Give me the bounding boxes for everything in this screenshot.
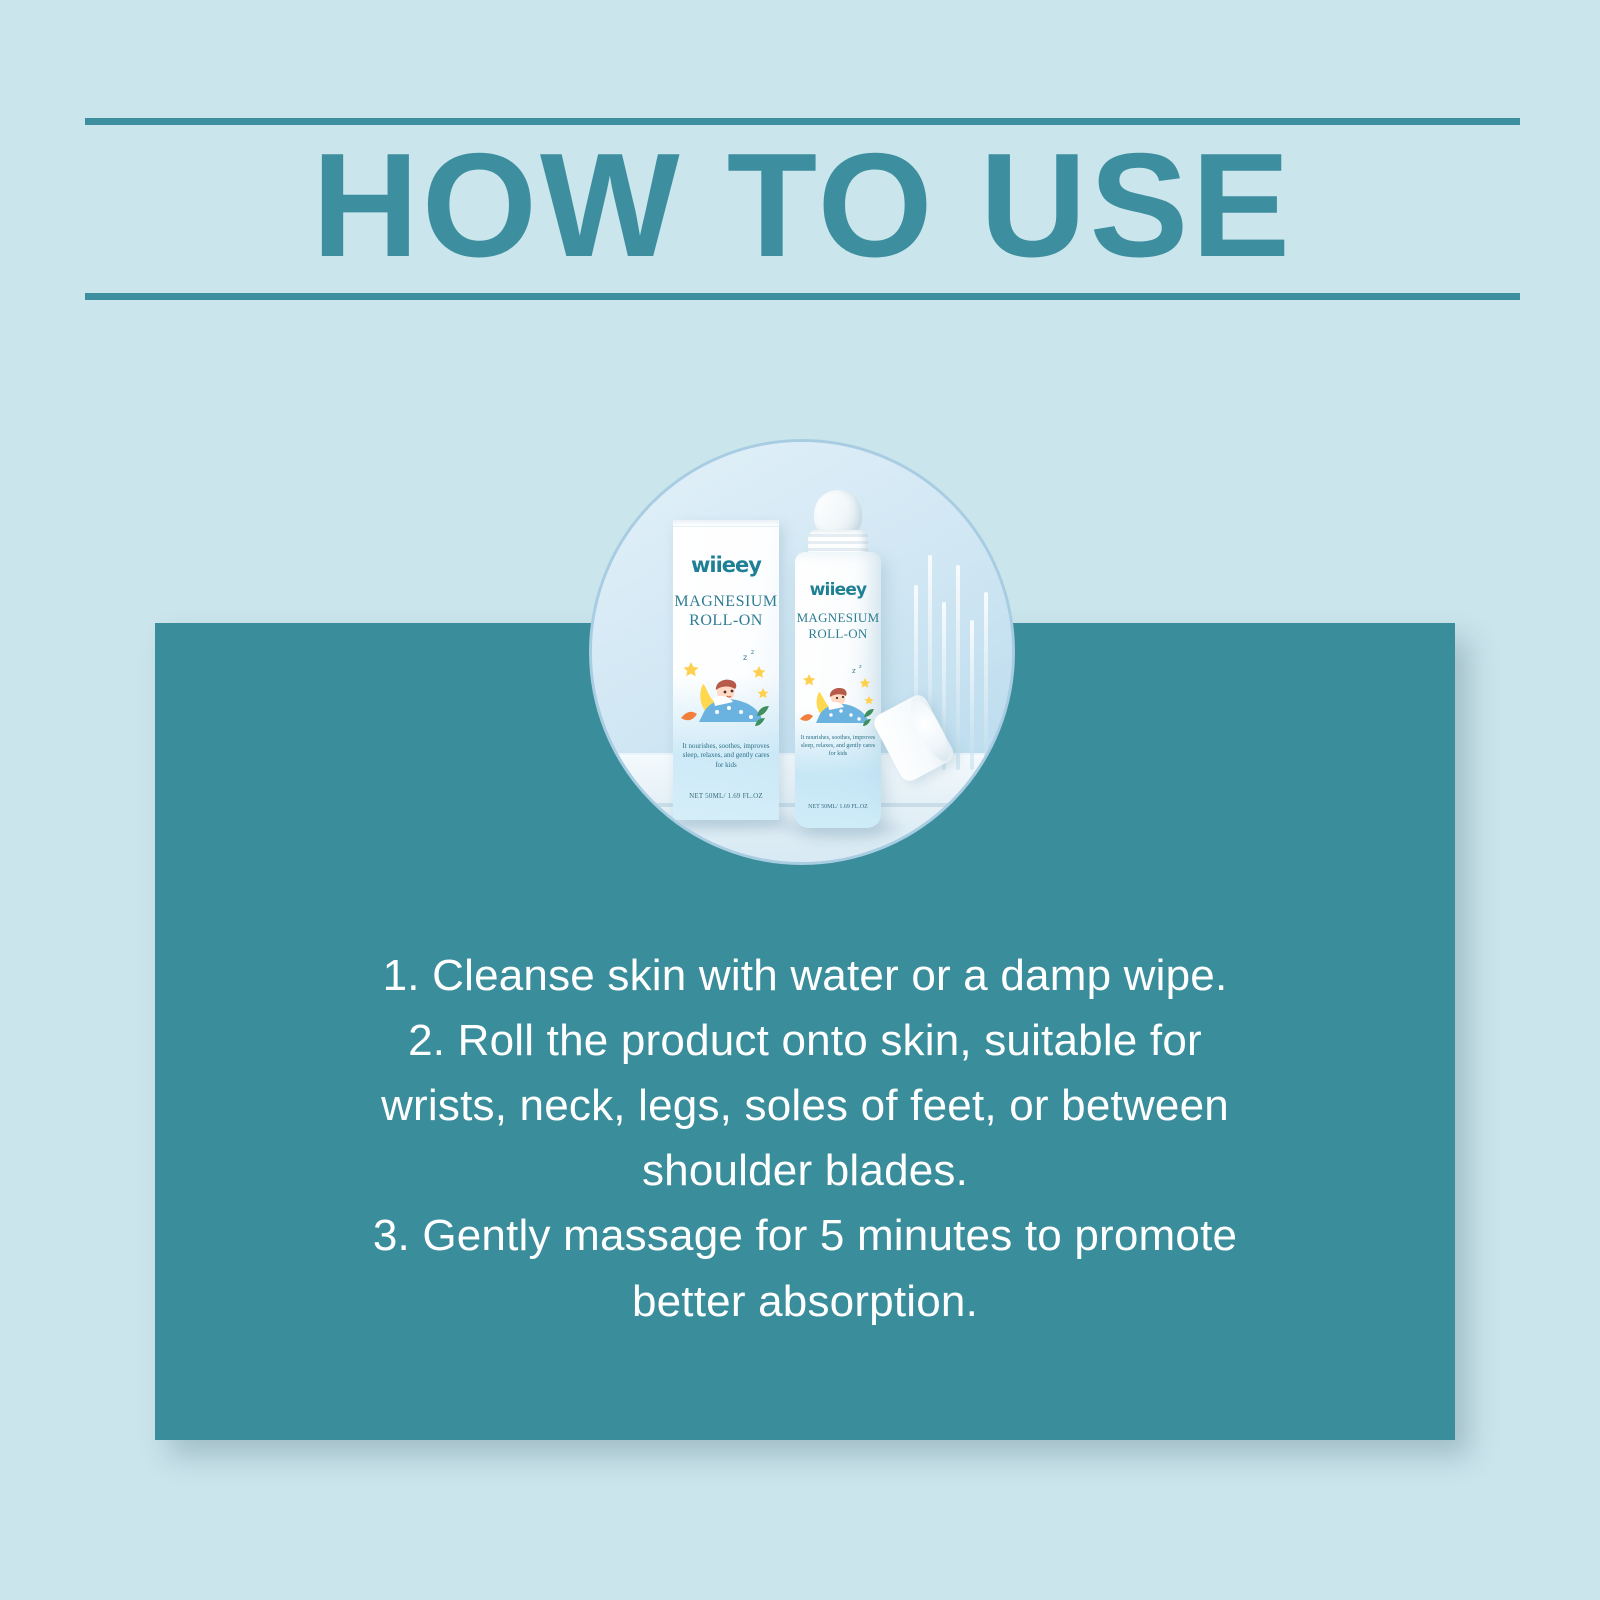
svg-text:z: z [859, 664, 862, 670]
carton-net-content: NET 50ML/ 1.69 FL.OZ [673, 792, 779, 800]
sleeping-child-moon-icon: z z [673, 640, 779, 736]
product-photo-circle: wiieey MAGNESIUM ROLL-ON z z [589, 439, 1015, 865]
sleeping-child-moon-icon: z z [795, 656, 881, 734]
carton-product-name-line2: ROLL-ON [689, 612, 763, 629]
product-bottle: wiieey MAGNESIUM ROLL-ON z z [788, 490, 888, 828]
instruction-line-2: 2. Roll the product onto skin, suitable … [275, 1008, 1335, 1073]
page-header: HOW TO USE [85, 118, 1520, 300]
decor-reed-icon [970, 620, 974, 770]
carton-top-flap [673, 520, 779, 527]
header-bottom-rule [85, 293, 1520, 300]
instruction-line-6: better absorption. [275, 1269, 1335, 1334]
svg-text:z: z [751, 649, 754, 656]
bottle-description: It nourishes, soothes, improves sleep, r… [800, 734, 876, 758]
carton-product-name-line1: MAGNESIUM [674, 593, 777, 610]
carton-product-name: MAGNESIUM ROLL-ON [673, 592, 779, 630]
bottle-body: wiieey MAGNESIUM ROLL-ON z z [795, 552, 881, 828]
bottle-brand-logo: wiieey [795, 580, 881, 600]
instruction-line-1: 1. Cleanse skin with water or a damp wip… [275, 943, 1335, 1008]
bottle-product-name-line1: MAGNESIUM [797, 610, 880, 625]
instructions-text: 1. Cleanse skin with water or a damp wip… [275, 943, 1335, 1334]
bottle-net-content: NET 50ML/ 1.69 FL.OZ [795, 804, 881, 810]
product-carton: wiieey MAGNESIUM ROLL-ON z z [673, 520, 779, 820]
decor-reed-icon [984, 592, 988, 770]
carton-illustration: z z [673, 640, 779, 736]
svg-text:z: z [743, 653, 747, 662]
svg-text:z: z [852, 667, 856, 675]
instruction-line-4: shoulder blades. [275, 1138, 1335, 1203]
bottle-product-name: MAGNESIUM ROLL-ON [795, 610, 881, 641]
instruction-line-5: 3. Gently massage for 5 minutes to promo… [275, 1203, 1335, 1268]
page-title: HOW TO USE [85, 132, 1520, 280]
decor-reed-icon [956, 565, 960, 770]
carton-brand-logo: wiieey [673, 553, 779, 577]
bottle-illustration: z z [795, 656, 881, 734]
carton-description: It nourishes, soothes, improves sleep, r… [679, 742, 773, 770]
bottle-product-name-line2: ROLL-ON [808, 626, 867, 641]
instruction-line-3: wrists, neck, legs, soles of feet, or be… [275, 1073, 1335, 1138]
